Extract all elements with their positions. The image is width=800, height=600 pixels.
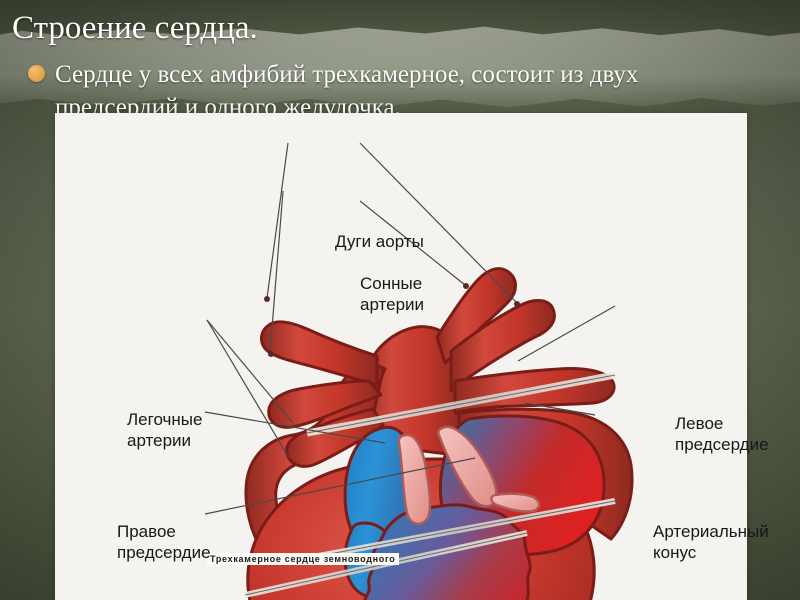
leader-aortic-arch-left	[267, 143, 288, 298]
diagram-caption: Трехкамерное сердце земноводного	[207, 553, 399, 565]
diagram-label-left-atrium: Левое предсердие	[675, 413, 769, 455]
diagram-label-aortic-arches: Дуги аорты	[335, 231, 424, 252]
bullet-dot-icon	[28, 65, 45, 82]
diagram-label-right-atrium: Правое предсердие	[117, 521, 211, 563]
slide-canvas: Строение сердца. Сердце у всех амфибий т…	[0, 0, 800, 600]
diagram-label-pulmonary-arteries: Легочные артерии	[127, 409, 202, 451]
diagram-label-carotid-arteries: Сонные артерии	[360, 273, 424, 315]
carotid-artery-left	[262, 322, 378, 385]
page-title: Строение сердца.	[12, 8, 258, 48]
diagram-label-arterial-cone: Артериальный конус	[653, 521, 769, 563]
